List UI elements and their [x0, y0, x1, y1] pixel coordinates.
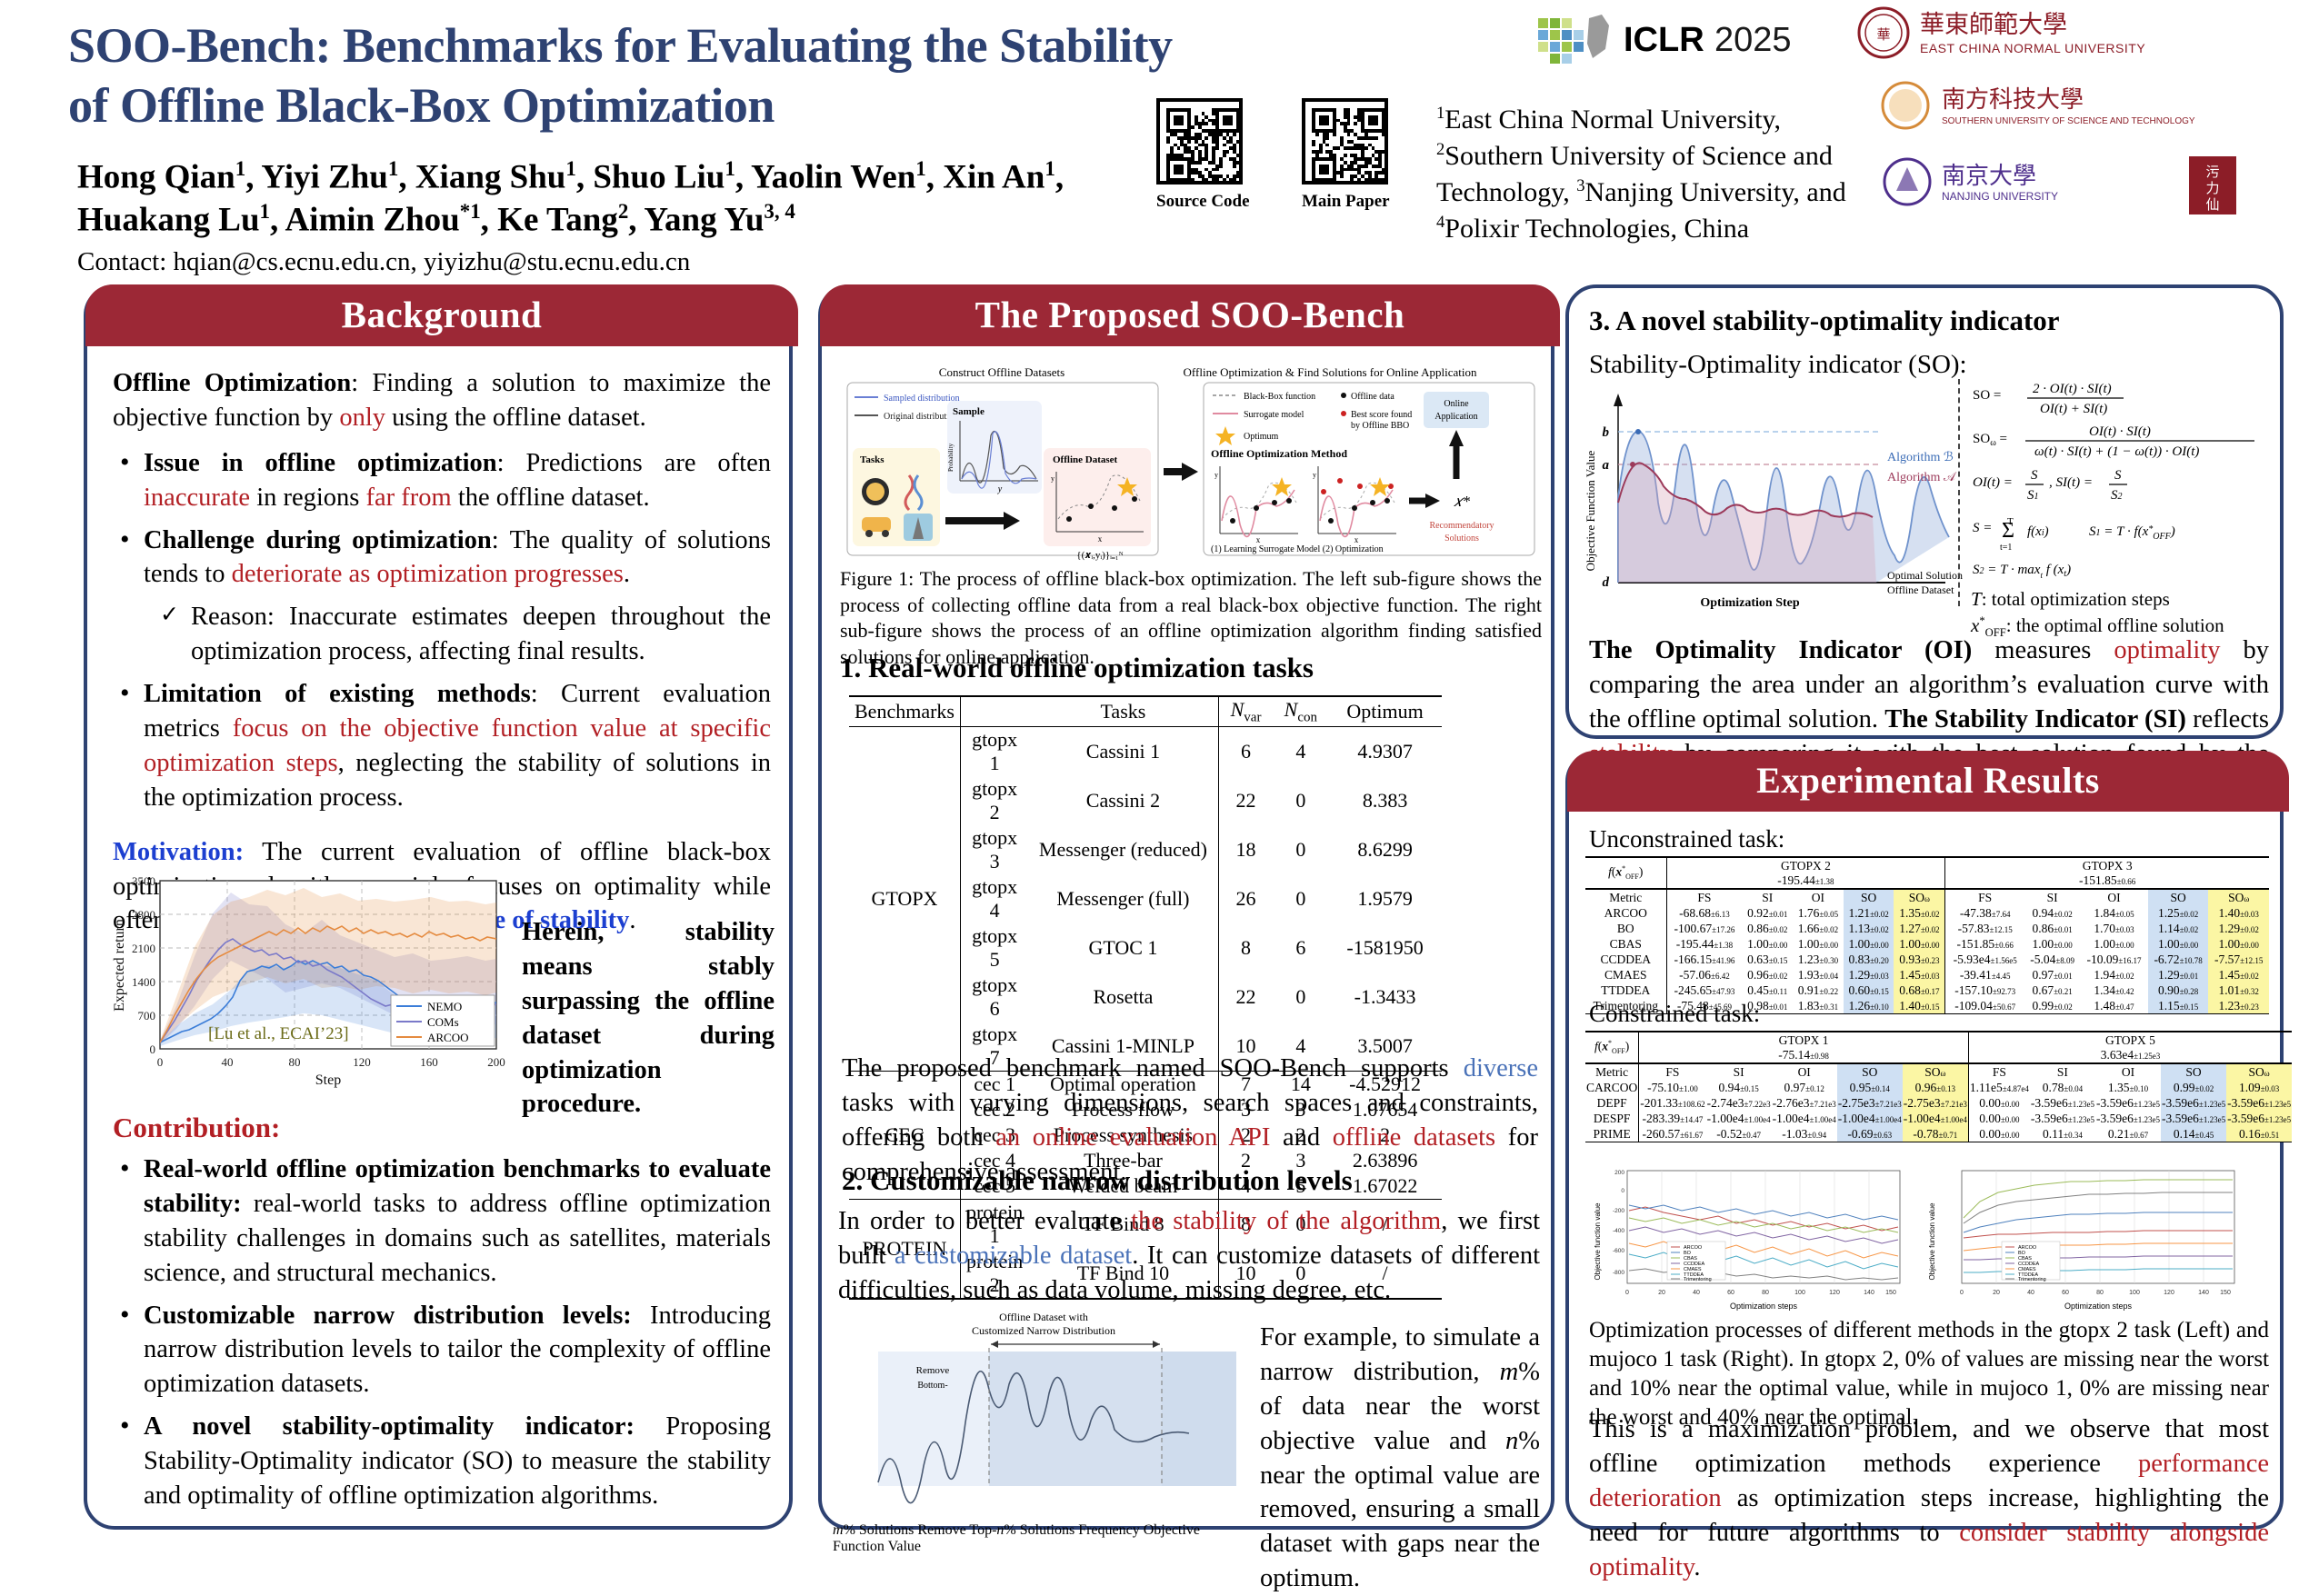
result-cell: -5.04±8.09: [2024, 952, 2080, 967]
svg-text:-400: -400: [1613, 1228, 1624, 1234]
proposed-paragraph-2: In order to better evaluate the stabilit…: [838, 1204, 1540, 1308]
table-row: PRIME-260.57±61.67-0.52±0.47-1.03±0.94-0…: [1585, 1126, 2292, 1142]
table-cell: 8.6299: [1328, 825, 1442, 874]
table-cell: gtopx 3: [960, 825, 1028, 874]
metric-header-cell: FS: [1639, 1063, 1706, 1080]
result-cell: 1.45±0.02: [2208, 967, 2269, 983]
narrow-distribution-figure: Offline Dataset with Customized Narrow D…: [833, 1308, 1253, 1522]
table-row: ARCOO-68.68±6.130.92±0.011.76±0.051.21±0…: [1585, 905, 2269, 921]
result-cell: 1.26±0.10: [1844, 998, 1894, 1014]
metric-header-cell: OI: [2080, 889, 2148, 905]
result-cell: 1.21±0.02: [1844, 905, 1894, 921]
chart-y-label: Objective function value: [1594, 1202, 1602, 1280]
result-cell: 0.86±0.01: [2024, 921, 2080, 936]
task-group-header: GTOPX 2-195.44±1.38: [1666, 857, 1945, 889]
svg-text:OI(t) · SI(t): OI(t) · SI(t): [2089, 424, 2151, 439]
chart-x-label: Optimization steps: [1730, 1302, 1798, 1311]
offline-optimization-method-label: Offline Optimization Method: [1211, 447, 1347, 460]
metric-header-cell: SO: [1837, 1063, 1903, 1080]
svg-text:20: 20: [1993, 1290, 2000, 1296]
result-cell: 1.00±0.00: [1894, 936, 1944, 952]
logo-east-china-normal-university: 華 華東師範大學 EAST CHINA NORMAL UNIVERSITY: [1856, 5, 2284, 64]
method-steps: (1) Learning Surrogate Model (2) Optimiz…: [1211, 544, 1384, 554]
iclr-name: ICLR: [1624, 21, 1704, 59]
svg-text:-200: -200: [1613, 1208, 1624, 1214]
experimental-conclusion: This is a maximization problem, and we o…: [1589, 1412, 2269, 1584]
legend-best-score-2: by Offline BBO: [1351, 421, 1409, 431]
online-application-2: Application: [1434, 412, 1477, 422]
qr-main-paper-label: Main Paper: [1302, 192, 1390, 212]
panel-proposed-soo-bench: The Proposed SOO-Bench Construct Offline…: [818, 284, 1554, 1530]
soi-tick-a: a: [1603, 458, 1610, 473]
table-cell: gtopx 1: [960, 727, 1028, 777]
table-cell: Cassini 1: [1028, 727, 1218, 777]
formula-so-omega: SOω = OI(t) · SI(t) ω(t) · SI(t) + (1 − …: [1973, 424, 2254, 459]
result-cell: 0.00±0.00: [1968, 1126, 2030, 1142]
chart-legend: ARCOO BO CBAS CCDDEA CMAES TTDDEA Trimen…: [1667, 1242, 1725, 1282]
svg-text:南方科技大學: 南方科技大學: [1942, 86, 2084, 113]
result-cell: -39.41±4.45: [1945, 967, 2024, 983]
result-cell: -2.76e3±7.21e3: [1772, 1095, 1837, 1111]
svg-text:120: 120: [2164, 1290, 2174, 1296]
result-cell: 1.29±0.03: [1844, 967, 1894, 983]
constrained-results-table: f(x*OFF)GTOPX 1-75.14±0.98GTOPX 53.63e4±…: [1585, 1031, 2269, 1142]
svg-text:120: 120: [1829, 1290, 1840, 1296]
result-cell: -2.75e3±7.21e3: [1903, 1095, 1969, 1111]
table-row: TTDDEA-245.65±47.930.45±0.110.91±0.220.6…: [1585, 983, 2269, 998]
table-cell: Cassini 2: [1028, 776, 1218, 825]
remove-top-2: Top-n% Solutions: [969, 1522, 1075, 1538]
result-cell: -3.59e6±1.23e5: [2095, 1111, 2161, 1126]
table-cell: 0: [1274, 825, 1329, 874]
result-cell: 0.92±0.01: [1742, 905, 1793, 921]
result-cell: -47.38±7.64: [1945, 905, 2024, 921]
result-cell: 1.70±0.03: [2080, 921, 2148, 936]
result-cell: -3.59e6±1.23e5: [2161, 1111, 2226, 1126]
table-cell: gtopx 5: [960, 923, 1028, 973]
legend-coms: COMs: [427, 1015, 459, 1029]
nd-y-axis-label: Frequency: [1078, 1522, 1140, 1538]
svg-text:-600: -600: [1613, 1248, 1624, 1254]
metric-header-cell: SO: [1844, 889, 1894, 905]
result-cell: 1.25±0.02: [2148, 905, 2209, 921]
recommendatory-1: Recommendatory: [1429, 521, 1494, 531]
panel-experimental-results: Experimental Results Unconstrained task:…: [1565, 751, 2284, 1530]
legend-best-score: Best score found: [1351, 410, 1412, 420]
benchmark-group-name: GTOPX: [849, 727, 960, 1072]
author-list: Hong Qian1, Yiyi Zhu1, Xiang Shu1, Shuo …: [77, 156, 1105, 241]
table-cell: 8: [1218, 923, 1273, 973]
result-cell: 0.21±0.67: [2095, 1126, 2161, 1142]
result-cell: 0.96±0.02: [1742, 967, 1793, 983]
ytick-1400: 1400: [132, 975, 155, 989]
svg-text:100: 100: [1794, 1290, 1805, 1296]
probability-axis: Probability: [947, 443, 955, 472]
logo-nanjing-university: 南京大學 NANJING UNIVERSITY: [1882, 155, 2182, 213]
svg-text:0: 0: [1625, 1290, 1629, 1296]
table-cell: 0: [1274, 874, 1329, 923]
y-axis-optimization: y: [1313, 471, 1316, 479]
metric-header-cell: SOω: [2226, 1063, 2292, 1080]
metric-header-cell: OI: [2095, 1063, 2161, 1080]
x-axis-surrogate: x: [1256, 535, 1261, 544]
result-cell: 0.94±0.02: [2024, 905, 2080, 921]
table-cell: -1581950: [1328, 923, 1442, 973]
metric-header-cell: Metric: [1585, 889, 1666, 905]
table-cell: gtopx 2: [960, 776, 1028, 825]
svg-text:S2 = T · maxt f (xt): S2 = T · maxt f (xt): [1973, 563, 2071, 580]
svg-text:S1 = T · f(x*OFF): S1 = T · f(x*OFF): [2089, 524, 2175, 542]
result-cell: -5.93e4±1.56e5: [1945, 952, 2024, 967]
metric-header-cell: SI: [1706, 1063, 1772, 1080]
result-cell: 0.96±0.13: [1903, 1080, 1969, 1095]
svg-text:40: 40: [2027, 1290, 2034, 1296]
result-cell: 1.14±0.02: [2148, 921, 2209, 936]
result-cell: -75.10±1.00: [1639, 1080, 1706, 1095]
table-row: DEPF-201.33±108.62-2.74e3±7.22e3-2.76e3±…: [1585, 1095, 2292, 1111]
method-name-cell: CBAS: [1585, 936, 1666, 952]
result-cell: 0.99±0.02: [2161, 1080, 2226, 1095]
result-cell: -1.00e4±1.00e4: [1772, 1111, 1837, 1126]
result-cell: -0.69±0.63: [1837, 1126, 1903, 1142]
task-group-header: GTOPX 1-75.14±0.98: [1639, 1032, 1969, 1063]
svg-text:S: S: [2031, 468, 2038, 483]
table-cell: gtopx 6: [960, 973, 1028, 1022]
result-cell: 1.00±0.00: [2208, 936, 2269, 952]
contribution-title: Contribution:: [113, 1112, 771, 1144]
contribution-list: Real-world offline optimization benchmar…: [113, 1152, 771, 1513]
section-1-title: 1. Real-world offline optimization tasks: [840, 652, 1314, 684]
svg-text:NANJING UNIVERSITY: NANJING UNIVERSITY: [1942, 190, 2058, 203]
svg-text:ω(t) · SI(t) + (1 − ω(t)) · OI: ω(t) · SI(t) + (1 − ω(t)) · OI(t): [2034, 444, 2199, 459]
xtick-0: 0: [157, 1055, 164, 1069]
logo-southern-university-of-science-and-technology: 南方科技大學 SOUTHERN UNIVERSITY OF SCIENCE AN…: [1880, 78, 2280, 136]
result-cell: -57.83±12.15: [1945, 921, 2024, 936]
optimal-solution-2: Offline Dataset: [1887, 584, 1954, 596]
xtick-200: 200: [487, 1055, 505, 1069]
result-cell: -57.06±6.42: [1666, 967, 1742, 983]
iclr-logo: ICLR 2025: [1536, 13, 1827, 64]
result-cell: 1.76±0.05: [1793, 905, 1844, 921]
result-cell: 0.45±0.11: [1742, 983, 1793, 998]
metric-header-cell: FS: [1945, 889, 2024, 905]
tasks-label: Tasks: [860, 454, 885, 465]
x-star: 𝑥*: [1454, 493, 1470, 510]
table-row: GTOPXgtopx 1Cassini 1644.9307: [849, 727, 1442, 777]
legend-offline-data: Offline data: [1351, 392, 1394, 402]
table-cell: 0: [1274, 973, 1329, 1022]
svg-text:S1: S1: [2027, 488, 2039, 503]
qr-main-paper[interactable]: Main Paper: [1302, 98, 1390, 212]
svg-text:2 · OI(t) · SI(t): 2 · OI(t) · SI(t): [2033, 382, 2112, 396]
qr-source-code-label: Source Code: [1156, 192, 1250, 212]
metric-header-cell: FS: [1666, 889, 1742, 905]
result-cell: -195.44±1.38: [1666, 936, 1742, 952]
result-cell: 0.83±0.20: [1844, 952, 1894, 967]
table-cell: gtopx 4: [960, 874, 1028, 923]
xtick-160: 160: [420, 1055, 438, 1069]
th-benchmarks: Benchmarks: [849, 696, 960, 727]
legend-blackbox-function: Black-Box function: [1244, 392, 1315, 402]
table-cell: Rosetta: [1028, 973, 1218, 1022]
result-cell: 1.27±0.02: [1894, 921, 1944, 936]
metric-header-cell: SOω: [1894, 889, 1944, 905]
result-cell: 0.93±0.23: [1894, 952, 1944, 967]
soi-tick-b: b: [1603, 425, 1610, 440]
table-row: BO-100.67±17.260.86±0.021.66±0.021.13±0.…: [1585, 921, 2269, 936]
result-cell: 0.68±0.17: [1894, 983, 1944, 998]
ytick-700: 700: [138, 1009, 156, 1022]
svg-text:S: S: [2114, 468, 2122, 483]
legend-surrogate-model: Surrogate model: [1244, 410, 1304, 420]
svg-text:Trimentoring: Trimentoring: [2018, 1277, 2046, 1282]
mujoco1-optimization-process: Objective function value 02040 6080100 1…: [1925, 1163, 2249, 1318]
method-name-cell: TTDDEA: [1585, 983, 1666, 998]
xtick-120: 120: [353, 1055, 371, 1069]
result-cell: -3.59e6±1.23e5: [2226, 1095, 2292, 1111]
table-cell: 8.383: [1328, 776, 1442, 825]
svg-text:60: 60: [1727, 1290, 1734, 1296]
th-nvar: Nvar: [1218, 696, 1273, 727]
result-cell: 1.00±0.00: [1793, 936, 1844, 952]
method-name-cell: DESPF: [1585, 1111, 1639, 1126]
result-cell: 0.67±0.21: [2024, 983, 2080, 998]
result-cell: 0.11±0.34: [2030, 1126, 2095, 1142]
result-cell: -109.04±50.67: [1945, 998, 2024, 1014]
x-axis-label: Step: [315, 1072, 341, 1088]
bullet-limitation: Limitation of existing methods: Current …: [113, 677, 771, 815]
table-cell: 6: [1218, 727, 1273, 777]
constrained-task-label: Constrained task:: [1589, 1000, 1760, 1028]
th-tasks: Tasks: [1028, 696, 1218, 727]
contribution-item: A novel stability-optimality indicator: …: [113, 1410, 771, 1513]
svg-text:SOω =: SOω =: [1973, 432, 2007, 448]
metric-header-row: MetricFSSIOISOSOωFSSIOISOSOω: [1585, 1063, 2292, 1080]
svg-text:60: 60: [2062, 1290, 2069, 1296]
y-axis-surrogate: y: [1214, 471, 1218, 479]
qr-code-image: [1302, 98, 1388, 185]
unconstrained-task-label: Unconstrained task:: [1589, 825, 1784, 853]
contribution-section: Contribution: Real-world offline optimiz…: [113, 1112, 771, 1513]
result-cell: -3.59e6±1.23e5: [2030, 1095, 2095, 1111]
result-cell: 1.11e5±4.87e4: [1968, 1080, 2030, 1095]
svg-text:140: 140: [2198, 1290, 2209, 1296]
result-cell: -0.52±0.47: [1706, 1126, 1772, 1142]
svg-text:-800: -800: [1613, 1270, 1624, 1276]
svg-text:150: 150: [1885, 1290, 1896, 1296]
svg-text:40: 40: [1693, 1290, 1700, 1296]
table-cell: Messenger (reduced): [1028, 825, 1218, 874]
result-cell: 1.23±0.30: [1793, 952, 1844, 967]
svg-text:華東師範大學: 華東師範大學: [1920, 11, 2067, 38]
result-cell: 1.35±0.10: [2095, 1080, 2161, 1095]
y-axis-dataset: y: [1051, 474, 1055, 483]
result-cell: 0.86±0.02: [1742, 921, 1793, 936]
table-row: CMAES-57.06±6.420.96±0.021.93±0.041.29±0…: [1585, 967, 2269, 983]
result-cell: -201.33±108.62: [1639, 1095, 1706, 1111]
table-cell: GTOC 1: [1028, 923, 1218, 973]
svg-text:20: 20: [1658, 1290, 1665, 1296]
result-cell: 1.01±0.32: [2208, 983, 2269, 998]
result-cell: 1.40±0.15: [1894, 998, 1944, 1014]
result-cell: -0.78±0.71: [1903, 1126, 1969, 1142]
formula-s: S = T Σ t=1 f(xi) S1 = T · f(x*OFF): [1973, 516, 2175, 553]
chart-annotation: [Lu et al., ECAI’23]: [208, 1024, 349, 1043]
metric-header-cell: SI: [2024, 889, 2080, 905]
affiliations: 1East China Normal University, 2Southern…: [1436, 102, 1873, 247]
svg-text:, SI(t) =: , SI(t) =: [2049, 475, 2093, 490]
svg-text:Σ: Σ: [2002, 519, 2014, 543]
result-cell: -283.39±14.47: [1639, 1111, 1706, 1126]
svg-text:S =: S =: [1973, 521, 1992, 535]
metric-header-cell: SO: [2148, 889, 2209, 905]
result-cell: 0.91±0.22: [1793, 983, 1844, 998]
result-cell: 1.00±0.00: [1844, 936, 1894, 952]
svg-text:OI(t) + SI(t): OI(t) + SI(t): [2040, 402, 2107, 416]
method-name-cell: BO: [1585, 921, 1666, 936]
xtick-40: 40: [222, 1055, 234, 1069]
task-group-header: GTOPX 3-151.85±0.66: [1945, 857, 2269, 889]
chart-legend: NEMO COMs ARCOO: [391, 995, 495, 1046]
result-cell: 0.16±0.51: [2226, 1126, 2292, 1142]
svg-text:SOUTHERN UNIVERSITY OF SCIENCE: SOUTHERN UNIVERSITY OF SCIENCE AND TECHN…: [1942, 116, 2195, 126]
result-cell: -10.09±16.17: [2080, 952, 2148, 967]
svg-text:華: 華: [1876, 27, 1890, 43]
svg-text:Trimentoring: Trimentoring: [1684, 1277, 1712, 1282]
result-cell: -68.68±6.13: [1666, 905, 1742, 921]
panel-experimental-title: Experimental Results: [1567, 751, 2289, 812]
metric-header-cell: FS: [1968, 1063, 2030, 1080]
result-cell: -157.10±92.73: [1945, 983, 2024, 998]
proposed-paragraph-3: For example, to simulate a narrow distri…: [1260, 1321, 1540, 1596]
formula-oi-si: OI(t) = S S1 , SI(t) = S S2: [1973, 468, 2127, 503]
iclr-year: 2025: [1714, 21, 1792, 59]
svg-text:140: 140: [1864, 1290, 1874, 1296]
svg-text:仙: 仙: [2205, 197, 2219, 213]
svg-text:南京大學: 南京大學: [1942, 163, 2036, 189]
table-cell: 18: [1218, 825, 1273, 874]
legend-algorithm-b: Algorithm ℬ: [1887, 451, 1954, 464]
bullet-reason: Reason: Inaccurate estimates deepen thro…: [155, 600, 771, 669]
metric-header-cell: SOω: [2208, 889, 2269, 905]
contact-line: Contact: hqian@cs.ecnu.edu.cn, yiyizhu@s…: [77, 247, 1168, 277]
table-header-row: f(x*OFF)GTOPX 2-195.44±1.38GTOPX 3-151.8…: [1585, 857, 2269, 889]
result-cell: 1.48±0.47: [2080, 998, 2148, 1014]
section-2-title: 2. Customizable narrow distribution leve…: [842, 1164, 1353, 1197]
result-cell: 1.00±0.00: [2148, 936, 2209, 952]
recommendatory-2: Solutions: [1444, 534, 1479, 544]
method-name-cell: CCDDEA: [1585, 952, 1666, 967]
result-cell: 1.23±0.23: [2208, 998, 2269, 1014]
method-name-cell: DEPF: [1585, 1095, 1639, 1111]
result-cell: -3.59e6±1.23e5: [2030, 1111, 2095, 1126]
metric-header-cell: OI: [1772, 1063, 1837, 1080]
result-cell: 1.83±0.31: [1793, 998, 1844, 1014]
table-cell: 26: [1218, 874, 1273, 923]
result-cell: 1.66±0.02: [1793, 921, 1844, 936]
method-name-cell: ARCOO: [1585, 905, 1666, 921]
legend-nemo: NEMO: [427, 1000, 462, 1013]
result-cell: 1.00±0.00: [2024, 936, 2080, 952]
so-formulas: SO = 2 · OI(t) · SI(t) OI(t) + SI(t) SOω…: [1958, 379, 2278, 606]
sample-label: Sample: [953, 406, 985, 417]
result-cell: 0.97±0.01: [2024, 967, 2080, 983]
x-axis-optimization: x: [1354, 535, 1359, 544]
result-cell: -166.15±41.96: [1666, 952, 1742, 967]
panel-background: Background Offline Optimization: Finding…: [84, 284, 793, 1530]
table-row: CARCOO-75.10±1.000.94±0.150.97±0.120.95±…: [1585, 1080, 2292, 1095]
svg-text:100: 100: [2129, 1290, 2140, 1296]
result-cell: -1.03±0.94: [1772, 1126, 1837, 1142]
metric-header-cell: Metric: [1585, 1063, 1639, 1080]
table-row: DESPF-283.39±14.47-1.00e4±1.00e4-1.00e4±…: [1585, 1111, 2292, 1126]
table-row: CBAS-195.44±1.381.00±0.001.00±0.001.00±0…: [1585, 936, 2269, 952]
result-cell: -2.75e3±7.21e3: [1837, 1095, 1903, 1111]
remove-bottom-1: Remove: [916, 1365, 950, 1376]
title-line-1: SOO-Bench: Benchmarks for Evaluating the…: [68, 16, 1414, 76]
metric-header-cell: OI: [1793, 889, 1844, 905]
poster-header: SOO-Bench: Benchmarks for Evaluating the…: [0, 0, 2319, 273]
qr-source-code[interactable]: Source Code: [1156, 98, 1250, 212]
formula-so: SO = 2 · OI(t) · SI(t) OI(t) + SI(t): [1973, 382, 2124, 416]
result-cell: 1.13±0.02: [1844, 921, 1894, 936]
chart-x-label: Optimization steps: [2064, 1302, 2133, 1311]
table-cell: 6: [1274, 923, 1329, 973]
method-name-cell: PRIME: [1585, 1126, 1639, 1142]
svg-text:80: 80: [2096, 1290, 2104, 1296]
result-cell: -6.72±10.78: [2148, 952, 2209, 967]
result-cell: -260.57±61.67: [1639, 1126, 1706, 1142]
svg-text:污: 污: [2205, 165, 2219, 180]
legend-optimum: Optimum: [1244, 432, 1279, 442]
ytick-2100: 2100: [132, 942, 155, 955]
gtopx2-optimization-process: Objective function value 2000-200 -400-6…: [1591, 1163, 1914, 1318]
offline-dataset-label: Offline Dataset: [1053, 454, 1118, 465]
remove-bottom-2: Bottom-: [917, 1381, 947, 1391]
svg-text:力: 力: [2205, 181, 2219, 196]
y-axis-sample: y: [997, 484, 1003, 494]
remove-top-1: Remove: [917, 1522, 965, 1538]
online-application-1: Online: [1444, 399, 1469, 409]
table-cell: 1.9579: [1328, 874, 1442, 923]
result-cell: -3.59e6±1.23e5: [2095, 1095, 2161, 1111]
result-cell: -1.00e4±1.00e4: [1903, 1111, 1969, 1126]
contribution-item: Real-world offline optimization benchmar…: [113, 1152, 771, 1291]
svg-text:SO =: SO =: [1973, 388, 2001, 403]
nd-title-line1: Offline Dataset with: [999, 1311, 1088, 1323]
legend-arcoo: ARCOO: [427, 1031, 469, 1044]
svg-text:80: 80: [1762, 1290, 1769, 1296]
soi-tick-d: d: [1603, 575, 1610, 590]
th-ncon: Ncon: [1274, 696, 1329, 727]
metric-header-cell: SI: [1742, 889, 1793, 905]
table-cell: 0: [1274, 776, 1329, 825]
table-cell: 22: [1218, 776, 1273, 825]
result-cell: -151.85±0.66: [1945, 936, 2024, 952]
svg-text:200: 200: [1614, 1170, 1624, 1176]
expected-return-chart: 3500 2800 2100 1400 700 0 040 80120 1602…: [104, 870, 513, 1097]
panel-background-title: Background: [85, 284, 798, 346]
optimal-solution-1: Optimal Solution in: [1887, 569, 1964, 582]
method-name-cell: CMAES: [1585, 967, 1666, 983]
result-cell: 0.99±0.02: [2024, 998, 2080, 1014]
unconstrained-results-table: f(x*OFF)GTOPX 2-195.44±1.38GTOPX 3-151.8…: [1585, 856, 2269, 1014]
legend-original-distribution: Original distribution: [884, 412, 958, 422]
method-name-cell: CARCOO: [1585, 1080, 1639, 1095]
result-cell: 0.60±0.15: [1844, 983, 1894, 998]
svg-text:0: 0: [1621, 1188, 1624, 1194]
result-cell: -7.57±12.15: [2208, 952, 2269, 967]
